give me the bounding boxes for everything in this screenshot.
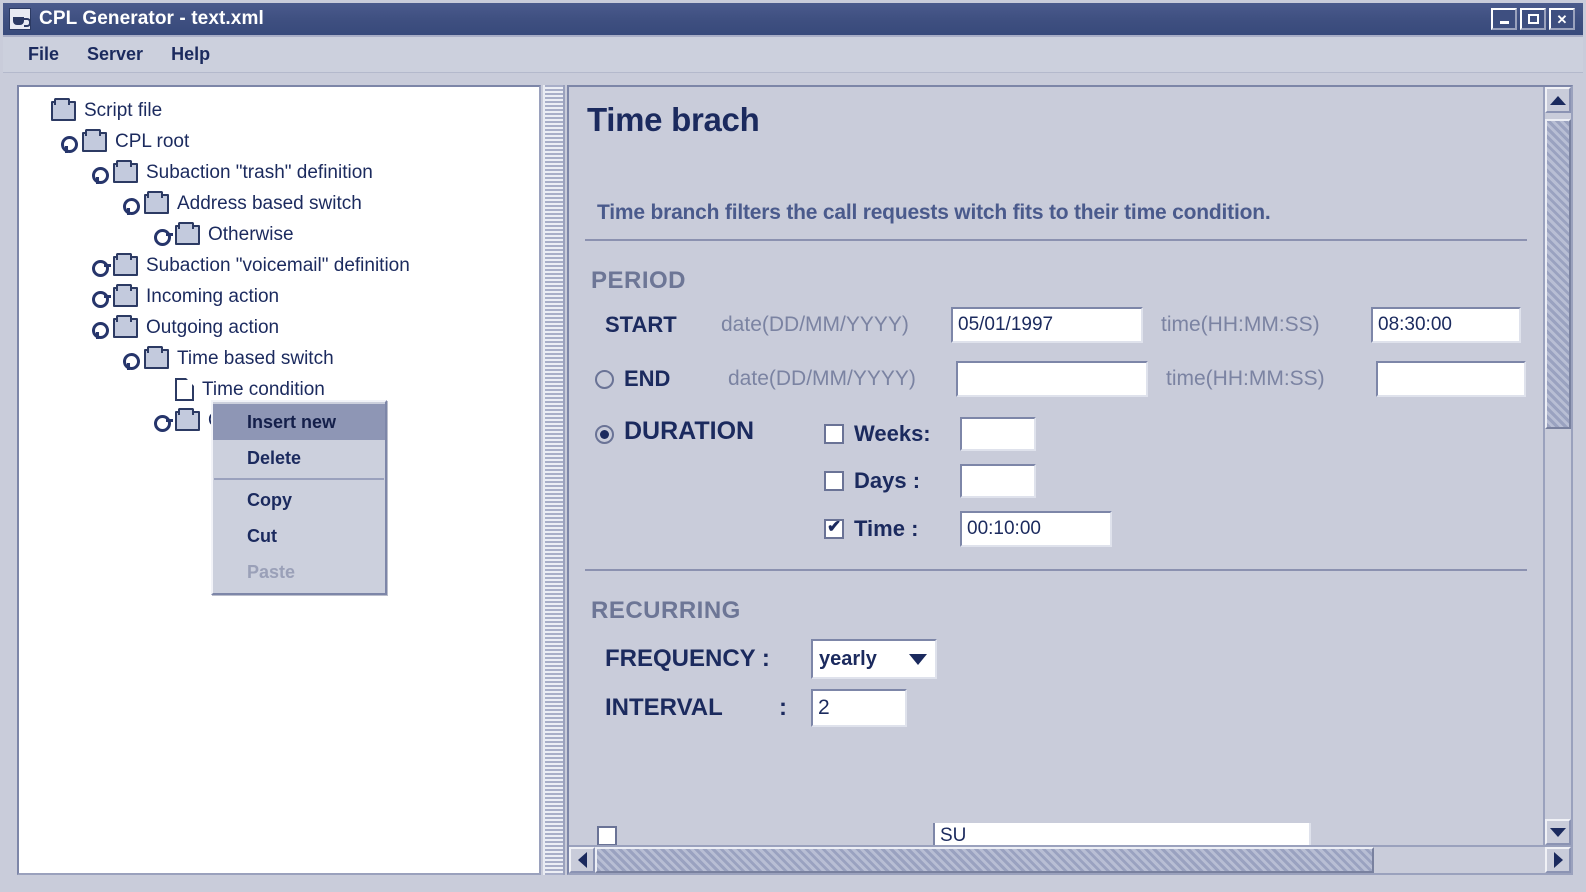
tree-handle-spacer <box>151 379 173 401</box>
clipped-checkbox[interactable] <box>597 826 617 845</box>
folder-icon <box>113 287 138 307</box>
tree-node[interactable]: Otherwise <box>27 219 539 250</box>
context-menu[interactable]: Insert new Delete Copy Cut Paste <box>211 400 387 595</box>
tree-node-label: CPL root <box>115 132 189 151</box>
interval-row: INTERVAL : 2 <box>583 689 1529 727</box>
tree-expand-handle-closed[interactable] <box>151 410 173 432</box>
minimize-icon <box>1500 21 1509 24</box>
folder-icon <box>113 256 138 276</box>
interval-input[interactable]: 2 <box>811 689 907 727</box>
tree-node[interactable]: Address based switch <box>27 188 539 219</box>
app-window: CPL Generator - text.xml ✕ File Server H… <box>0 0 1586 892</box>
tree-node-label: Subaction "voicemail" definition <box>146 256 410 275</box>
script-tree-panel[interactable]: Script fileCPL rootSubaction "trash" def… <box>17 85 541 875</box>
days-checkbox[interactable] <box>824 471 844 491</box>
tree-expand-handle-closed[interactable] <box>151 224 173 246</box>
duration-time-input[interactable]: 00:10:00 <box>960 511 1112 547</box>
folder-icon <box>82 132 107 152</box>
menu-bar: File Server Help <box>3 37 1583 73</box>
horizontal-scroll-track[interactable] <box>595 847 1545 873</box>
page-description: Time branch filters the call requests wi… <box>597 201 1529 225</box>
start-date-input[interactable]: 05/01/1997 <box>951 307 1143 343</box>
divider-line-top <box>585 239 1527 241</box>
horizontal-scrollbar[interactable] <box>569 845 1571 873</box>
tree-node-label: Script file <box>84 101 162 120</box>
triangle-up-icon <box>1550 96 1566 105</box>
weeks-input[interactable] <box>960 417 1036 451</box>
tree-expand-handle-closed[interactable] <box>89 255 111 277</box>
tree-node-label: Address based switch <box>177 194 362 213</box>
recurring-section-label: RECURRING <box>591 597 1529 625</box>
tree-node-label: Time based switch <box>177 349 334 368</box>
end-time-label: time(HH:MM:SS) <box>1166 367 1376 391</box>
maximize-button[interactable] <box>1520 8 1546 30</box>
folder-icon <box>113 318 138 338</box>
interval-label: INTERVAL <box>605 694 779 722</box>
java-coffee-cup-icon <box>9 8 31 30</box>
tree-expand-handle-open[interactable] <box>89 317 111 339</box>
frequency-row: FREQUENCY : yearly <box>583 639 1529 679</box>
divider-line-middle <box>585 569 1527 571</box>
scroll-down-button[interactable] <box>1545 819 1571 845</box>
start-label: START <box>605 312 721 338</box>
days-label: Days : <box>854 468 960 494</box>
vertical-scrollbar[interactable] <box>1543 87 1571 845</box>
detail-body: Time brach Time branch filters the call … <box>569 87 1571 845</box>
vertical-scroll-track[interactable] <box>1545 113 1571 819</box>
vertical-scroll-thumb[interactable] <box>1545 119 1571 429</box>
page-title: Time brach <box>587 101 1529 139</box>
folder-icon <box>144 194 169 214</box>
tree-node[interactable]: Subaction "voicemail" definition <box>27 250 539 281</box>
weeks-label: Weeks: <box>854 421 960 447</box>
detail-scroll-area: Time brach Time branch filters the call … <box>569 87 1543 845</box>
end-date-label: date(DD/MM/YYYY) <box>728 367 956 391</box>
context-menu-item-delete[interactable]: Delete <box>213 440 385 476</box>
tree-handle-spacer <box>27 100 49 122</box>
triangle-left-icon <box>578 852 587 868</box>
end-date-input[interactable] <box>956 361 1148 397</box>
triangle-right-icon <box>1554 852 1563 868</box>
tree-node[interactable]: Time based switch <box>27 343 539 374</box>
folder-icon <box>175 411 200 431</box>
period-section-label: PERIOD <box>591 267 1529 295</box>
split-pane-divider[interactable] <box>543 85 565 875</box>
context-menu-separator <box>214 478 384 480</box>
folder-icon <box>51 101 76 121</box>
tree-node-label: Incoming action <box>146 287 279 306</box>
end-radio[interactable] <box>595 370 614 389</box>
folder-icon <box>113 163 138 183</box>
start-time-label: time(HH:MM:SS) <box>1161 313 1371 337</box>
start-row: START date(DD/MM/YYYY) 05/01/1997 time(H… <box>583 307 1529 343</box>
duration-row: DURATION Weeks: Days : <box>583 417 1529 547</box>
weeks-checkbox[interactable] <box>824 424 844 444</box>
clipped-row: SU <box>583 823 1529 845</box>
start-date-label: date(DD/MM/YYYY) <box>721 313 951 337</box>
clipped-input[interactable]: SU <box>933 823 1311 845</box>
days-input[interactable] <box>960 464 1036 498</box>
tree-node[interactable]: Script file <box>27 95 539 126</box>
scroll-left-button[interactable] <box>569 847 595 873</box>
tree-expand-handle-open[interactable] <box>89 162 111 184</box>
context-menu-item-insert-new[interactable]: Insert new <box>213 404 385 440</box>
tree-node[interactable]: Outgoing action <box>27 312 539 343</box>
folder-icon <box>144 349 169 369</box>
maximize-icon <box>1528 14 1539 24</box>
menu-file[interactable]: File <box>19 41 68 68</box>
document-icon <box>175 378 194 401</box>
tree-node[interactable]: Subaction "trash" definition <box>27 157 539 188</box>
tree-expand-handle-closed[interactable] <box>89 286 111 308</box>
tree-expand-handle-open[interactable] <box>120 348 142 370</box>
context-menu-item-paste: Paste <box>213 554 385 590</box>
context-menu-item-copy[interactable]: Copy <box>213 482 385 518</box>
close-icon: ✕ <box>1551 10 1573 28</box>
script-tree[interactable]: Script fileCPL rootSubaction "trash" def… <box>19 87 539 436</box>
scroll-right-button[interactable] <box>1545 847 1571 873</box>
frequency-value: yearly <box>819 648 877 671</box>
tree-node-label: Time condition <box>202 380 325 399</box>
menu-help[interactable]: Help <box>162 41 219 68</box>
frequency-select[interactable]: yearly <box>811 639 937 679</box>
window-controls: ✕ <box>1491 8 1579 30</box>
time-checkbox[interactable] <box>824 519 844 539</box>
tree-node[interactable]: Incoming action <box>27 281 539 312</box>
scroll-up-button[interactable] <box>1545 87 1571 113</box>
end-row: END date(DD/MM/YYYY) time(HH:MM:SS) <box>583 361 1529 397</box>
end-time-input[interactable] <box>1376 361 1526 397</box>
context-menu-item-cut[interactable]: Cut <box>213 518 385 554</box>
end-label: END <box>624 366 728 392</box>
horizontal-scroll-thumb[interactable] <box>595 847 1374 873</box>
minimize-button[interactable] <box>1491 8 1517 30</box>
triangle-down-icon <box>1550 828 1566 837</box>
duration-label: DURATION <box>624 417 824 446</box>
window-title: CPL Generator - text.xml <box>39 8 1491 30</box>
tree-node-label: Subaction "trash" definition <box>146 163 373 182</box>
frequency-label: FREQUENCY : <box>605 645 811 673</box>
tree-expand-handle-open[interactable] <box>120 193 142 215</box>
folder-icon <box>175 225 200 245</box>
content-area: Script fileCPL rootSubaction "trash" def… <box>3 73 1583 889</box>
close-button[interactable]: ✕ <box>1549 8 1575 30</box>
tree-node-label: Otherwise <box>208 225 294 244</box>
start-time-input[interactable]: 08:30:00 <box>1371 307 1521 343</box>
title-bar: CPL Generator - text.xml ✕ <box>3 3 1583 37</box>
detail-panel: Time brach Time branch filters the call … <box>567 85 1573 875</box>
tree-node-label: Outgoing action <box>146 318 279 337</box>
time-label: Time : <box>854 516 960 542</box>
tree-node[interactable]: CPL root <box>27 126 539 157</box>
chevron-down-icon <box>909 654 927 665</box>
duration-radio[interactable] <box>595 425 614 444</box>
tree-expand-handle-open[interactable] <box>58 131 80 153</box>
interval-colon: : <box>779 694 811 722</box>
menu-server[interactable]: Server <box>78 41 152 68</box>
